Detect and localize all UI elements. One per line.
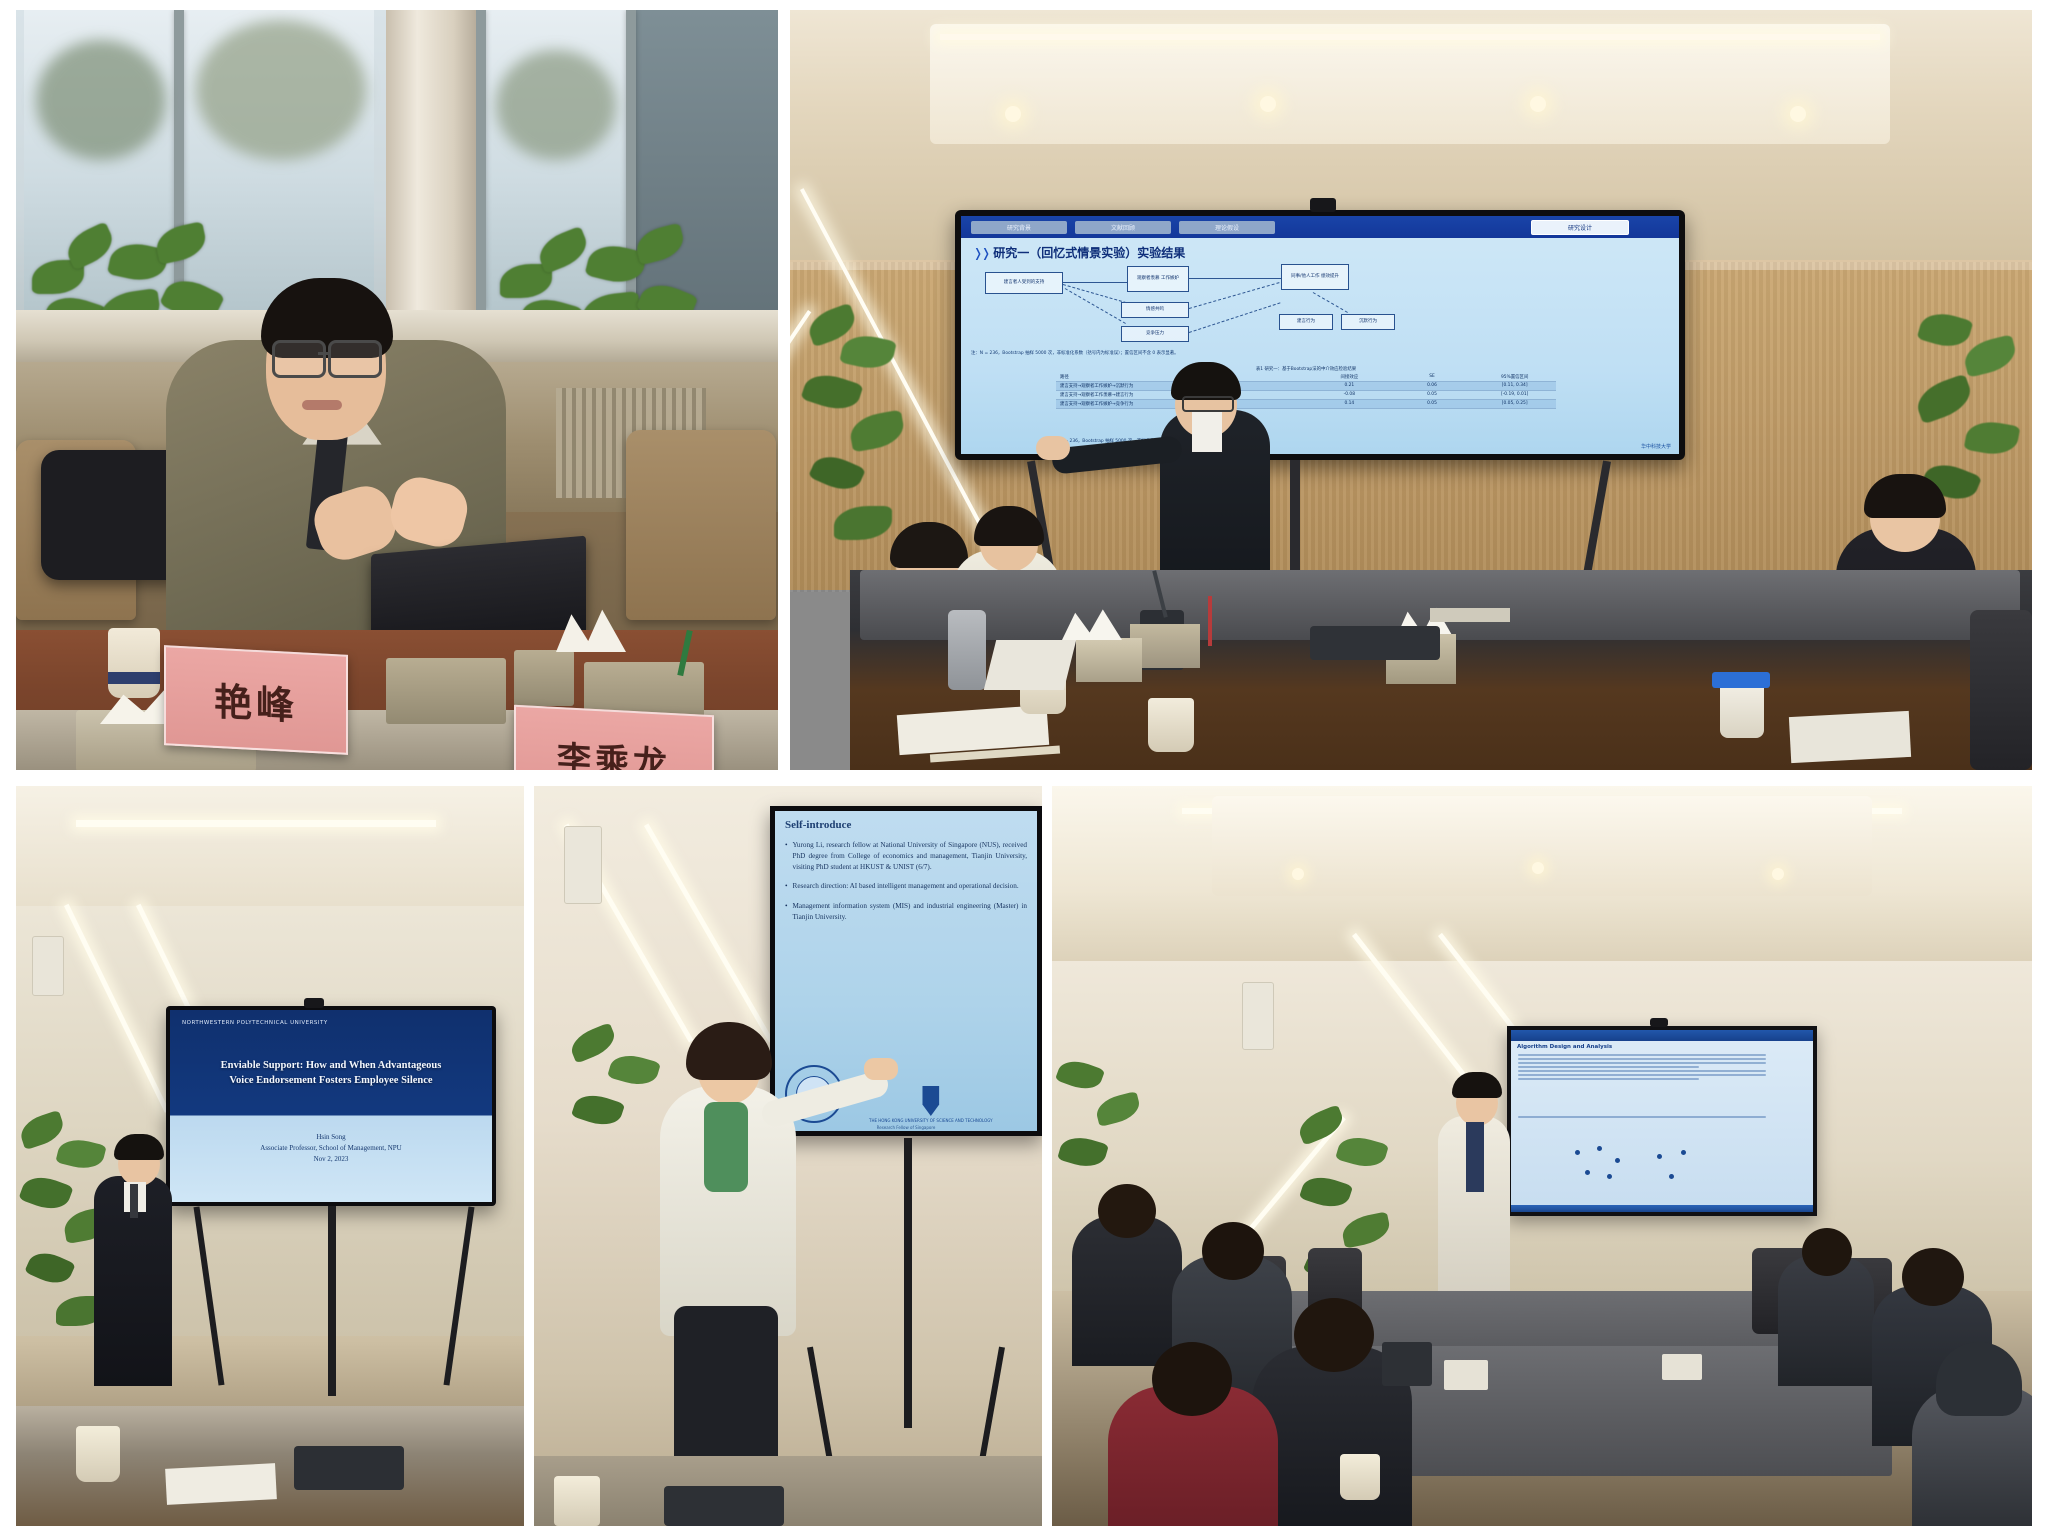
title-slide: NORTHWESTERN POLYTECHNICAL UNIVERSITY En… [170, 1010, 492, 1202]
eyeglasses-right [328, 340, 382, 378]
downlight [1292, 868, 1304, 880]
speaker-necktie [1466, 1122, 1484, 1192]
wall-speaker [1242, 982, 1274, 1050]
slide-nav-bar: 研究背景 文献回顾 理论假设 研究设计 [961, 216, 1679, 238]
audience-member-body [1072, 1216, 1182, 1366]
slide-heading: Self-introduce [785, 819, 1027, 831]
desk-organizer [514, 650, 574, 706]
name-card [1430, 608, 1510, 622]
tree-outside [36, 40, 166, 160]
speaker-hair [1452, 1072, 1502, 1098]
slide-tab-2: 理论假设 [1179, 221, 1275, 234]
marker-pen [1208, 596, 1212, 646]
cup-lid [1712, 672, 1770, 688]
speaker-necktie [130, 1184, 138, 1218]
nameplate-second: 李乘龙 [514, 705, 714, 770]
tv-display: Self-introduce • Yurong Li, research fel… [770, 806, 1042, 1136]
laptop-screen [984, 640, 1076, 690]
slide-title: Algorithm Design and Analysis [1511, 1041, 1813, 1052]
chair [1970, 610, 2032, 770]
paper-cup [108, 628, 160, 698]
slide-graph-2 [1651, 1148, 1705, 1182]
results-table: 表1 研究一：基于Bootstrap法的中介效应检验结果 路径 间接效应 SE … [1056, 366, 1556, 409]
diagram-node-1: 观察者羡慕 工作嫉妒 [1127, 266, 1189, 292]
table-col-2: SE [1391, 374, 1474, 380]
nameplate-front: 艳峰 [164, 645, 348, 755]
bullet-icon: • [785, 881, 788, 892]
slide-text-line [1518, 1058, 1766, 1060]
speaker-hair [114, 1134, 164, 1160]
photo-speaker-at-table: 艳峰 李乘龙 [16, 10, 778, 770]
cove-light [940, 34, 1880, 40]
cell: 0.05 [1391, 392, 1474, 398]
presentation-slide: 研究背景 文献回顾 理论假设 研究设计 ❭❭ 研究一（回忆式情景实验）实验结果 … [961, 216, 1679, 454]
audience-member-head [1202, 1222, 1264, 1280]
slide-title-line2: Voice Endorsement Fosters Employee Silen… [170, 1073, 492, 1088]
camera-icon [1310, 198, 1336, 212]
slide-bullet-2: • Management information system (MIS) an… [785, 901, 1027, 923]
eyeglasses-left [272, 340, 326, 378]
table-header-row: 路径 间接效应 SE 95%置信区间 [1056, 373, 1556, 382]
slide-bullet-0: • Yurong Li, research fellow at National… [785, 840, 1027, 872]
slide-text-line [1518, 1054, 1766, 1056]
downlight [1772, 868, 1784, 880]
slide-footer: Research Fellow of Singapore [775, 1125, 1037, 1130]
slide-text-line [1518, 1070, 1766, 1072]
audience-member-head [1152, 1342, 1232, 1416]
photo-self-introduce-slide: Self-introduce • Yurong Li, research fel… [534, 786, 1042, 1526]
cell: [0.11, 0.34] [1473, 383, 1556, 389]
audience-member-head [1902, 1248, 1964, 1306]
cup-band [108, 672, 160, 684]
speaker-mouth [302, 400, 342, 410]
diagram-edge-dashed [1313, 292, 1348, 313]
audience-member-head [1802, 1228, 1852, 1276]
slide-date: Nov 2, 2023 [170, 1154, 492, 1165]
university-mark: 华中科技大学 [1641, 443, 1671, 450]
laptop [664, 1486, 784, 1526]
ceiling-recess [930, 24, 1890, 144]
photo-presentation-chinese: 研究背景 文献回顾 理论假设 研究设计 ❭❭ 研究一（回忆式情景实验）实验结果 … [790, 10, 2032, 770]
slide-tab-active: 研究设计 [1531, 220, 1629, 235]
downlight [1790, 106, 1806, 122]
diagram-node-0: 建言者人受到的支持 [985, 272, 1063, 294]
paper-cup [1340, 1454, 1380, 1500]
photo-collage: 艳峰 李乘龙 [0, 0, 2048, 1535]
slide-footnote-top: 注：N = 236，Bootstrap 抽样 5000 次，非标准化系数（括号内… [971, 350, 1179, 356]
lecture-slide: Algorithm Design and Analysis [1511, 1030, 1813, 1212]
photo-english-title-slide: NORTHWESTERN POLYTECHNICAL UNIVERSITY En… [16, 786, 524, 1526]
self-introduce-slide: Self-introduce • Yurong Li, research fel… [775, 811, 1037, 1131]
slide-text-line [1518, 1066, 1699, 1068]
slide-text-line [1518, 1116, 1766, 1118]
laptop [1382, 1342, 1432, 1386]
audience-member-head [1294, 1298, 1374, 1372]
paper-document [1444, 1360, 1488, 1390]
slide-title: ❭❭ 研究一（回忆式情景实验）实验结果 [973, 244, 1185, 261]
tree-outside [496, 50, 616, 160]
presenter-top [704, 1102, 748, 1192]
cell: -0.08 [1308, 392, 1391, 398]
slide-text-line [1518, 1078, 1699, 1080]
eyeglasses-bridge [318, 352, 330, 355]
slide-graph-1 [1571, 1146, 1625, 1180]
diagram-edge-dashed [1189, 282, 1280, 309]
slide-tab-0: 研究背景 [971, 221, 1067, 234]
wall-speaker [32, 936, 64, 996]
slide-affiliation: Associate Professor, School of Managemen… [170, 1143, 492, 1154]
bullet-text: Research direction: AI based intelligent… [793, 881, 1019, 892]
presenter-hand [864, 1058, 898, 1080]
diagram-node-5: 建言行为 [1279, 314, 1333, 330]
table-row: 建言支持→观察者工作嫉妒→竞争行为 0.14 0.05 [0.05, 0.25] [1056, 400, 1556, 409]
chair [626, 430, 776, 620]
ceiling-recess [1212, 796, 1872, 896]
display-stand-post [328, 1206, 336, 1396]
table-row: 建言支持→观察者工作羡慕→建言行为 -0.08 0.05 [-0.19, 0.0… [1056, 391, 1556, 400]
slide-author-block: Hsin Song Associate Professor, School of… [170, 1132, 492, 1166]
cove-light [76, 820, 436, 827]
audience-member-head [1098, 1184, 1156, 1238]
hkust-logo-icon: THE HONG KONG UNIVERSITY OF SCIENCE AND … [869, 1086, 993, 1123]
cell: 0.21 [1308, 383, 1391, 389]
diagram-node-6: 沉默行为 [1341, 314, 1395, 330]
window-mullion [476, 10, 486, 310]
tv-display: NORTHWESTERN POLYTECHNICAL UNIVERSITY En… [166, 1006, 496, 1206]
paper-document [1662, 1354, 1702, 1380]
bullet-text: Management information system (MIS) and … [793, 901, 1027, 923]
presenter-collar [1192, 412, 1222, 452]
cell: 0.05 [1391, 401, 1474, 407]
slide-author: Hsin Song [170, 1132, 492, 1143]
slide-window-titlebar [1511, 1030, 1813, 1041]
paper-cup [554, 1476, 600, 1526]
slide-title: Enviable Support: How and When Advantage… [170, 1058, 492, 1088]
bullet-icon: • [785, 840, 788, 872]
downlight [1532, 862, 1544, 874]
presenter-hand [1036, 436, 1070, 460]
ceiling [16, 786, 524, 906]
slide-logo: NORTHWESTERN POLYTECHNICAL UNIVERSITY [182, 1020, 328, 1026]
cell: [0.05, 0.25] [1473, 401, 1556, 407]
slide-text-line [1518, 1062, 1766, 1064]
diagram-edge-dashed [1189, 302, 1281, 333]
diagram-node-3: 情感共鸣 [1121, 302, 1189, 318]
slide-text-line [1518, 1074, 1766, 1076]
laptop [1310, 626, 1440, 660]
desk-organizer [386, 658, 506, 724]
tree-outside [196, 20, 366, 160]
thermos-bottle [948, 610, 986, 690]
camera-icon [1650, 1018, 1668, 1027]
paper-document [165, 1463, 277, 1505]
desk-organizer [1076, 638, 1142, 682]
downlight [1260, 96, 1276, 112]
hkust-logo-text: THE HONG KONG UNIVERSITY OF SCIENCE AND … [869, 1118, 993, 1123]
hkust-mark [918, 1086, 944, 1116]
table-col-3: 95%置信区间 [1473, 374, 1556, 380]
wall-display: 研究背景 文献回顾 理论假设 研究设计 ❭❭ 研究一（回忆式情景实验）实验结果 … [955, 210, 1685, 460]
taskbar [1511, 1205, 1813, 1212]
wall-speaker [564, 826, 602, 904]
diagram-node-2: 同事/他人工作 绩效提升 [1281, 264, 1349, 290]
cell: 0.06 [1391, 383, 1474, 389]
slide-bullet-1: • Research direction: AI based intellige… [785, 881, 1027, 892]
bullet-text: Yurong Li, research fellow at National U… [793, 840, 1027, 872]
paper-document [1789, 711, 1911, 763]
diagram-node-4: 竞争压力 [1121, 326, 1189, 342]
slide-title-line1: Enviable Support: How and When Advantage… [170, 1058, 492, 1073]
display-stand-post [904, 1138, 912, 1428]
chevron-right-icon: ❭❭ [973, 246, 989, 260]
laptop [294, 1446, 404, 1490]
table-caption: 表1 研究一：基于Bootstrap法的中介效应检验结果 [1056, 366, 1556, 373]
table-col-1: 间接效应 [1308, 374, 1391, 380]
photo-lecture-wide-room: Algorithm Design and Analysis [1052, 786, 2032, 1526]
paper-cup [1148, 698, 1194, 752]
projection-display: Algorithm Design and Analysis [1507, 1026, 1817, 1216]
table-row: 建言支持→观察者工作嫉妒→沉默行为 0.21 0.06 [0.11, 0.34] [1056, 382, 1556, 391]
downlight [1005, 106, 1021, 122]
diagram-edge [1063, 282, 1127, 283]
paper-cup [76, 1426, 120, 1482]
window-pillar [386, 10, 476, 310]
cell: 0.14 [1308, 401, 1391, 407]
bullet-icon: • [785, 901, 788, 923]
downlight [1530, 96, 1546, 112]
diagram-edge [1189, 278, 1281, 279]
desk [534, 1456, 1042, 1526]
cell: [-0.19, 0.01] [1473, 392, 1556, 398]
camera-icon [304, 998, 324, 1008]
presenter-glasses [1182, 396, 1234, 412]
slide-tab-1: 文献回顾 [1075, 221, 1171, 234]
